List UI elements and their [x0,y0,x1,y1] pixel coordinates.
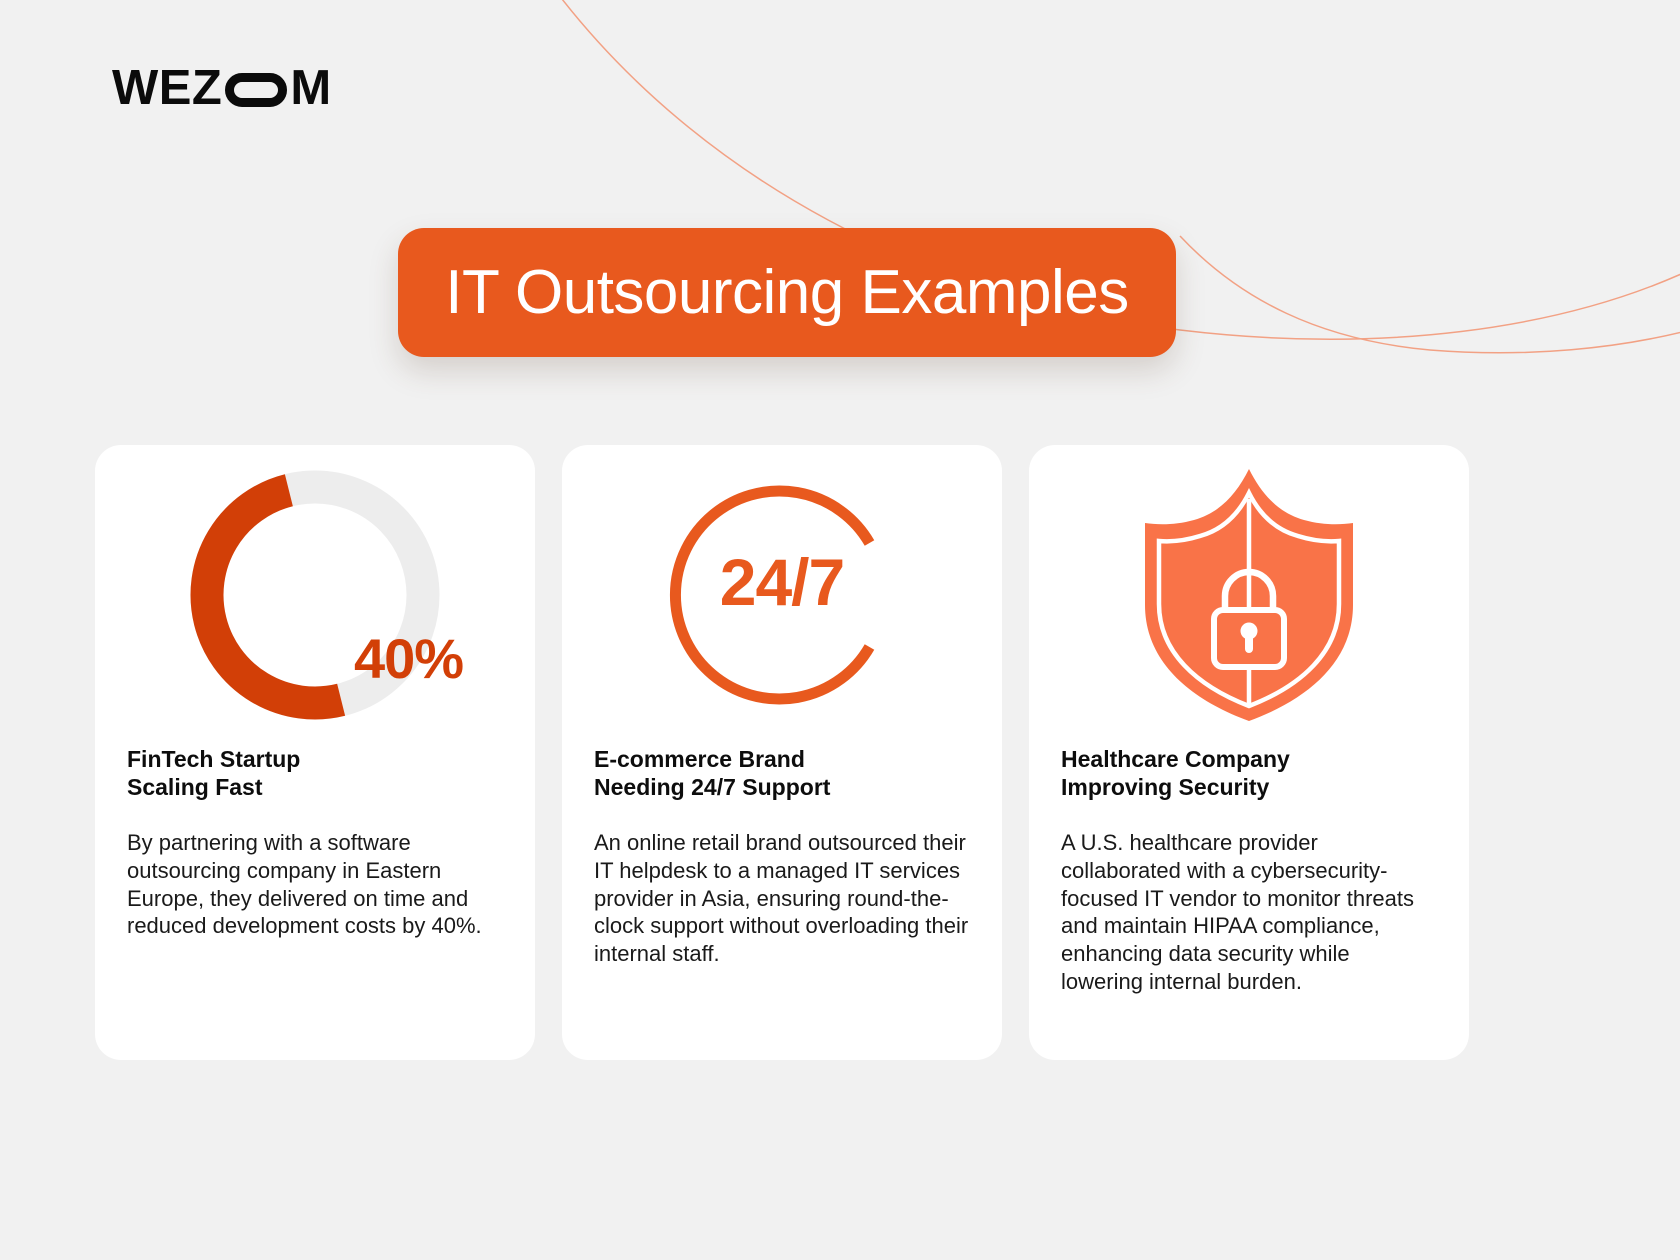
page-title-banner: IT Outsourcing Examples [398,228,1176,357]
logo-text-part1: WEZ [112,64,222,113]
cards-row: 40% FinTech Startup Scaling Fast By part… [95,445,1585,1060]
twenty-four-seven-circle-icon: 24/7 [652,465,912,725]
card-body: A U.S. healthcare provider collaborated … [1061,829,1437,995]
card-title: Healthcare Company Improving Security [1061,745,1437,801]
card-fintech-startup: 40% FinTech Startup Scaling Fast By part… [95,445,535,1060]
twenty-four-seven-label: 24/7 [652,549,912,615]
card-title: E-commerce Brand Needing 24/7 Support [594,745,970,801]
card-body: By partnering with a software outsourcin… [127,829,503,940]
page-title: IT Outsourcing Examples [445,262,1128,324]
donut-progress-chart: 40% [165,445,465,745]
logo-text: WEZM [112,64,332,113]
donut-chart-svg [165,445,465,745]
card-visual-donut: 40% [127,445,503,745]
donut-value-arc [184,490,341,726]
wezom-logo: WEZM [112,64,332,113]
donut-value-label: 40% [354,631,463,687]
logo-pill-o-icon [225,73,287,107]
card-healthcare-company: Healthcare Company Improving Security A … [1029,445,1469,1060]
lock-keyhole-stem-icon [1245,631,1253,653]
card-body: An online retail brand outsourced their … [594,829,970,968]
shield-lock-icon [1129,465,1369,725]
logo-text-part2: M [290,64,331,113]
card-title: FinTech Startup Scaling Fast [127,745,503,801]
deco-curve-lower [1180,236,1680,353]
card-visual-shield [1061,445,1437,745]
card-ecommerce-brand: 24/7 E-commerce Brand Needing 24/7 Suppo… [562,445,1002,1060]
card-visual-247: 24/7 [594,445,970,745]
